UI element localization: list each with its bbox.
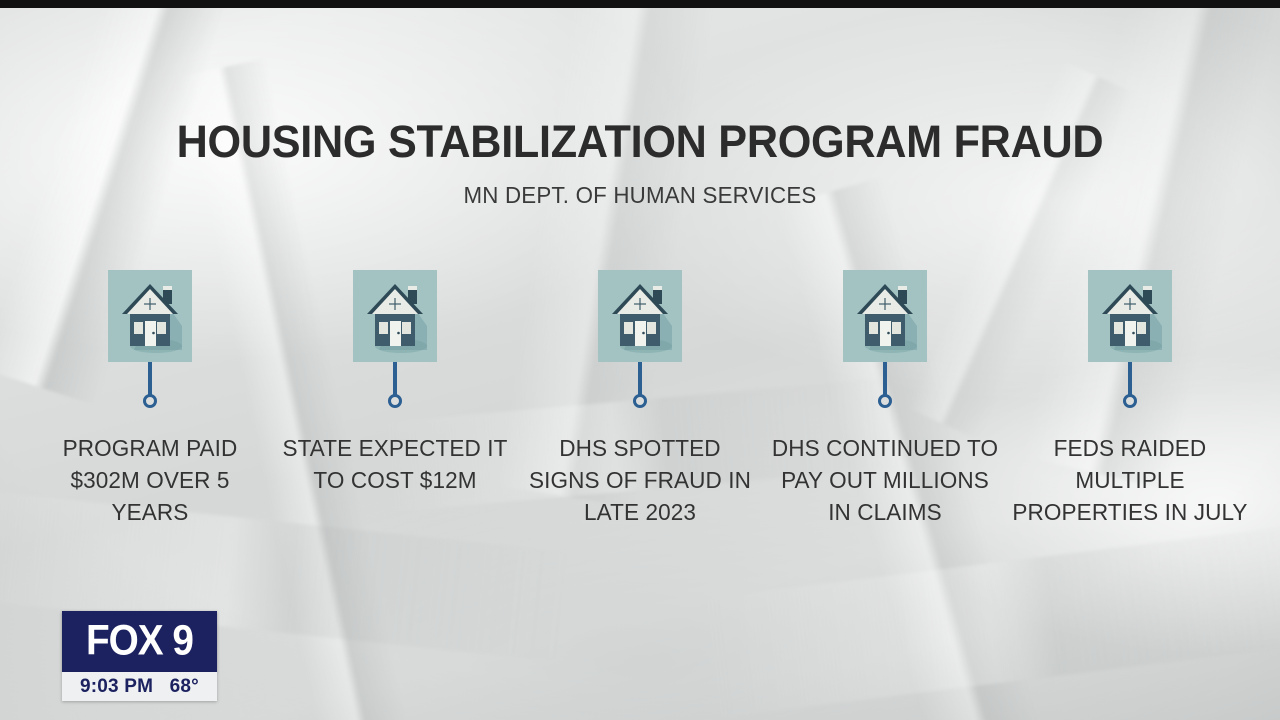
house-icon bbox=[108, 270, 192, 362]
broadcast-graphic-screen: HOUSING STABILIZATION PROGRAM FRAUD MN D… bbox=[0, 0, 1280, 720]
timeline-connector bbox=[1122, 362, 1138, 410]
clock-temperature-bar: 9:03 PM 68° bbox=[62, 672, 217, 701]
list-item-label: DHS SPOTTED SIGNS OF FRAUD IN LATE 2023 bbox=[522, 432, 757, 528]
connector-stem bbox=[393, 362, 397, 398]
house-icon-glyph bbox=[353, 270, 437, 362]
list-item: STATE EXPECTED IT TO COST $12M bbox=[273, 270, 517, 528]
letterbox-bar-top bbox=[0, 0, 1280, 8]
connector-node-icon bbox=[878, 394, 892, 408]
page-subtitle: MN DEPT. OF HUMAN SERVICES bbox=[19, 182, 1261, 209]
house-icon-glyph bbox=[108, 270, 192, 362]
timeline-connector bbox=[877, 362, 893, 410]
list-item-label: DHS CONTINUED TO PAY OUT MILLIONS IN CLA… bbox=[767, 432, 1002, 528]
list-item: DHS SPOTTED SIGNS OF FRAUD IN LATE 2023 bbox=[518, 270, 762, 528]
fox9-logo: FOX 9 bbox=[62, 611, 217, 672]
connector-stem bbox=[883, 362, 887, 398]
list-item: DHS CONTINUED TO PAY OUT MILLIONS IN CLA… bbox=[763, 270, 1007, 528]
timeline-connector bbox=[632, 362, 648, 410]
station-bug: FOX 9 9:03 PM 68° bbox=[62, 611, 217, 701]
list-item: PROGRAM PAID $302M OVER 5 YEARS bbox=[28, 270, 272, 528]
fox9-logo-text: FOX 9 bbox=[86, 617, 193, 665]
house-icon bbox=[353, 270, 437, 362]
house-icon bbox=[1088, 270, 1172, 362]
connector-node-icon bbox=[633, 394, 647, 408]
connector-stem bbox=[1128, 362, 1132, 398]
list-item-label: PROGRAM PAID $302M OVER 5 YEARS bbox=[32, 432, 267, 528]
list-item-label: STATE EXPECTED IT TO COST $12M bbox=[277, 432, 512, 496]
timeline-connector bbox=[387, 362, 403, 410]
connector-stem bbox=[638, 362, 642, 398]
house-icon-glyph bbox=[1088, 270, 1172, 362]
house-icon bbox=[843, 270, 927, 362]
timeline-connector bbox=[142, 362, 158, 410]
house-icon-glyph bbox=[843, 270, 927, 362]
connector-node-icon bbox=[1123, 394, 1137, 408]
connector-node-icon bbox=[143, 394, 157, 408]
timeline-list: PROGRAM PAID $302M OVER 5 YEARS bbox=[28, 270, 1252, 528]
house-icon bbox=[598, 270, 682, 362]
clock-temperature-text: 9:03 PM 68° bbox=[80, 676, 199, 698]
connector-node-icon bbox=[388, 394, 402, 408]
connector-stem bbox=[148, 362, 152, 398]
list-item-label: FEDS RAIDED MULTIPLE PROPERTIES IN JULY bbox=[1012, 432, 1247, 528]
page-title: HOUSING STABILIZATION PROGRAM FRAUD bbox=[26, 116, 1255, 168]
house-icon-glyph bbox=[598, 270, 682, 362]
list-item: FEDS RAIDED MULTIPLE PROPERTIES IN JULY bbox=[1008, 270, 1252, 528]
